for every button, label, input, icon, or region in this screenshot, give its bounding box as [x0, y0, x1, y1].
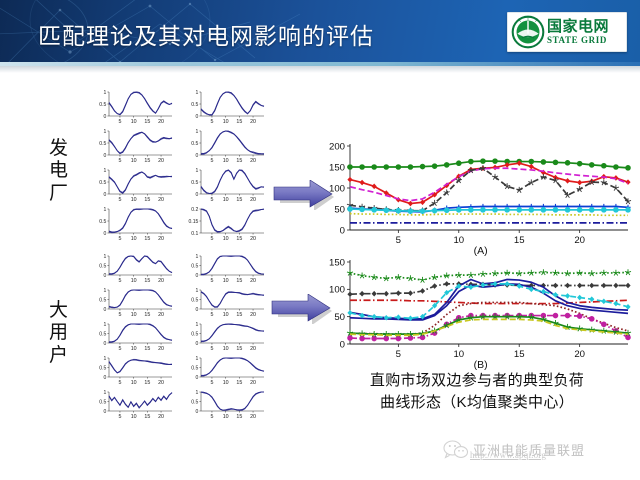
- svg-text:10: 10: [453, 235, 464, 246]
- small-multiple-panel: 00.515101520: [180, 354, 266, 387]
- svg-text:200: 200: [329, 141, 345, 152]
- small-multiple-panel: 00.515101520: [88, 286, 174, 319]
- svg-text:20: 20: [574, 235, 585, 246]
- svg-text:20: 20: [158, 346, 164, 352]
- svg-text:1: 1: [104, 254, 107, 260]
- small-multiple-panel: 00.515101520: [88, 354, 174, 387]
- svg-text:10: 10: [131, 158, 137, 164]
- svg-text:150: 150: [329, 162, 345, 173]
- svg-text:10: 10: [223, 236, 229, 242]
- small-multiples-power-plant: 00.51510152000.51510152000.51510152000.5…: [88, 88, 266, 243]
- svg-text:10: 10: [131, 197, 137, 203]
- small-multiple-panel: 00.515101520: [180, 320, 266, 353]
- svg-text:0.15: 0.15: [188, 219, 198, 225]
- chart-plot-area: 0501001505101520(B): [316, 254, 634, 370]
- caption-line-1: 直购市场双边参与者的典型负荷: [318, 370, 636, 392]
- svg-text:0.5: 0.5: [191, 141, 198, 147]
- svg-text:0.5: 0.5: [99, 297, 106, 303]
- svg-text:0: 0: [196, 114, 199, 120]
- svg-text:5: 5: [210, 119, 213, 125]
- svg-text:0: 0: [196, 153, 199, 159]
- svg-text:1: 1: [104, 207, 107, 213]
- svg-text:5: 5: [210, 278, 213, 284]
- svg-text:1: 1: [196, 90, 199, 96]
- svg-text:20: 20: [250, 158, 256, 164]
- svg-text:0.5: 0.5: [99, 263, 106, 269]
- svg-text:15: 15: [144, 278, 150, 284]
- svg-text:15: 15: [236, 346, 242, 352]
- svg-text:5: 5: [210, 197, 213, 203]
- svg-text:5: 5: [210, 158, 213, 164]
- svg-text:10: 10: [223, 380, 229, 386]
- svg-text:5: 5: [118, 380, 121, 386]
- svg-text:0: 0: [104, 273, 107, 279]
- small-multiple-panel: 00.515101520: [180, 88, 266, 126]
- group-label-char: 厂: [36, 183, 82, 205]
- svg-text:10: 10: [223, 119, 229, 125]
- chart-plot-area: 0501001502005101520(A): [316, 138, 634, 256]
- svg-text:15: 15: [144, 197, 150, 203]
- svg-text:20: 20: [250, 380, 256, 386]
- svg-text:20: 20: [250, 312, 256, 318]
- svg-text:0: 0: [104, 307, 107, 313]
- page-title: 匹配理论及其对电网影响的评估: [38, 17, 374, 51]
- svg-text:20: 20: [250, 236, 256, 242]
- small-multiple-panel: 00.515101520: [180, 252, 266, 285]
- svg-text:15: 15: [236, 236, 242, 242]
- svg-text:5: 5: [118, 119, 121, 125]
- chart-A-power-plant-load-curves: 0501001502005101520(A): [316, 138, 634, 256]
- group-label-char: 电: [36, 160, 82, 182]
- svg-text:1: 1: [196, 168, 199, 174]
- svg-text:15: 15: [236, 278, 242, 284]
- svg-text:0: 0: [104, 153, 107, 159]
- svg-text:0.1: 0.1: [191, 231, 198, 237]
- svg-text:1: 1: [196, 254, 199, 260]
- logo-text-cn: 国家电网: [547, 19, 609, 34]
- svg-text:50: 50: [334, 204, 345, 215]
- svg-text:5: 5: [118, 158, 121, 164]
- svg-text:1: 1: [104, 288, 107, 294]
- svg-text:1: 1: [104, 168, 107, 174]
- chart-series-line: [350, 161, 628, 168]
- watermark-url: http://www.apqi.org: [470, 450, 546, 460]
- svg-text:0.5: 0.5: [191, 263, 198, 269]
- svg-text:10: 10: [223, 158, 229, 164]
- svg-text:20: 20: [158, 278, 164, 284]
- svg-text:0.5: 0.5: [99, 365, 106, 371]
- svg-text:15: 15: [514, 235, 525, 246]
- wechat-icon: [443, 440, 469, 459]
- state-grid-logo: 国家电网 STATE GRID: [507, 12, 627, 52]
- svg-text:0.5: 0.5: [191, 297, 198, 303]
- svg-text:20: 20: [158, 158, 164, 164]
- group-label-char: 大: [36, 300, 82, 322]
- small-multiple-panel: 00.515101520: [88, 205, 174, 243]
- svg-text:0: 0: [104, 341, 107, 347]
- svg-text:0: 0: [104, 192, 107, 198]
- svg-text:20: 20: [158, 312, 164, 318]
- svg-text:0: 0: [104, 114, 107, 120]
- svg-text:150: 150: [329, 257, 345, 268]
- figure-caption: 直购市场双边参与者的典型负荷 曲线形态（K均值聚类中心）: [318, 370, 636, 414]
- small-multiple-panel: 00.515101520: [180, 127, 266, 165]
- svg-text:0.5: 0.5: [99, 141, 106, 147]
- svg-text:0: 0: [196, 307, 199, 313]
- svg-text:0.5: 0.5: [191, 102, 198, 108]
- svg-text:0.5: 0.5: [99, 331, 106, 337]
- svg-text:20: 20: [250, 119, 256, 125]
- svg-text:0.5: 0.5: [191, 180, 198, 186]
- svg-text:5: 5: [210, 312, 213, 318]
- svg-text:100: 100: [329, 183, 345, 194]
- svg-text:0: 0: [196, 409, 199, 415]
- svg-text:50: 50: [334, 312, 345, 323]
- state-grid-emblem-icon: [511, 15, 545, 49]
- small-multiples-large-user: 00.51510152000.51510152000.51510152000.5…: [88, 252, 266, 421]
- svg-text:0: 0: [196, 341, 199, 347]
- svg-text:5: 5: [210, 346, 213, 352]
- svg-text:1: 1: [196, 356, 199, 362]
- svg-text:1: 1: [196, 288, 199, 294]
- svg-text:15: 15: [236, 119, 242, 125]
- svg-text:5: 5: [396, 349, 401, 360]
- chart-B-large-user-load-curves: 0501001505101520(B): [316, 254, 634, 370]
- svg-text:20: 20: [574, 349, 585, 360]
- small-multiple-panel: 00.515101520: [88, 166, 174, 204]
- group-label-char: 户: [36, 345, 82, 367]
- svg-text:0: 0: [104, 375, 107, 381]
- svg-text:20: 20: [158, 197, 164, 203]
- svg-text:1: 1: [104, 322, 107, 328]
- svg-text:5: 5: [210, 380, 213, 386]
- svg-text:15: 15: [236, 312, 242, 318]
- svg-text:10: 10: [453, 349, 464, 360]
- svg-text:0: 0: [340, 339, 345, 350]
- small-multiple-panel: 00.515101520: [180, 286, 266, 319]
- svg-text:15: 15: [236, 158, 242, 164]
- svg-text:5: 5: [118, 278, 121, 284]
- svg-text:10: 10: [131, 346, 137, 352]
- svg-text:0: 0: [104, 231, 107, 237]
- svg-text:10: 10: [223, 346, 229, 352]
- svg-text:15: 15: [144, 414, 150, 420]
- svg-text:15: 15: [236, 380, 242, 386]
- small-multiple-panel: 00.515101520: [180, 166, 266, 204]
- svg-text:20: 20: [250, 197, 256, 203]
- group-label-power-plant: 发 电 厂: [36, 138, 82, 205]
- svg-text:20: 20: [158, 236, 164, 242]
- chart-series-line: [350, 319, 628, 335]
- svg-text:1: 1: [104, 390, 107, 396]
- svg-text:5: 5: [118, 414, 121, 420]
- svg-text:10: 10: [223, 278, 229, 284]
- group-label-char: 发: [36, 138, 82, 160]
- small-multiple-panel: 00.515101520: [88, 388, 174, 421]
- svg-text:15: 15: [514, 349, 525, 360]
- chart-series-line: [350, 284, 628, 294]
- svg-text:5: 5: [210, 236, 213, 242]
- svg-text:15: 15: [236, 414, 242, 420]
- caption-line-2: 曲线形态（K均值聚类中心）: [318, 392, 636, 414]
- svg-text:1: 1: [196, 129, 199, 135]
- svg-text:15: 15: [144, 236, 150, 242]
- svg-text:1: 1: [196, 322, 199, 328]
- svg-text:10: 10: [223, 197, 229, 203]
- svg-text:10: 10: [223, 312, 229, 318]
- chart-x-label: (B): [474, 359, 488, 370]
- svg-text:0: 0: [340, 225, 345, 236]
- svg-text:0.5: 0.5: [191, 331, 198, 337]
- svg-text:0: 0: [196, 375, 199, 381]
- svg-text:10: 10: [131, 414, 137, 420]
- svg-text:0: 0: [104, 409, 107, 415]
- group-label-large-user: 大 用 户: [36, 300, 82, 367]
- chart-series-line: [350, 168, 628, 210]
- svg-text:0.5: 0.5: [99, 219, 106, 225]
- logo-text-en: STATE GRID: [547, 36, 609, 45]
- svg-text:5: 5: [210, 414, 213, 420]
- svg-text:20: 20: [158, 414, 164, 420]
- small-multiple-panel: 00.515101520: [88, 88, 174, 126]
- svg-text:10: 10: [131, 380, 137, 386]
- svg-text:0: 0: [196, 273, 199, 279]
- chart-series-line: [350, 272, 628, 280]
- svg-text:5: 5: [118, 346, 121, 352]
- small-multiple-panel: 00.515101520: [88, 252, 174, 285]
- svg-text:1: 1: [104, 356, 107, 362]
- svg-text:15: 15: [144, 119, 150, 125]
- svg-text:10: 10: [131, 278, 137, 284]
- chart-series-line: [350, 214, 628, 216]
- svg-text:0.5: 0.5: [191, 365, 198, 371]
- svg-text:10: 10: [223, 414, 229, 420]
- svg-text:1: 1: [196, 390, 199, 396]
- svg-text:1: 1: [104, 129, 107, 135]
- svg-text:15: 15: [236, 197, 242, 203]
- small-multiple-panel: 00.515101520: [88, 127, 174, 165]
- svg-text:10: 10: [131, 119, 137, 125]
- svg-text:15: 15: [144, 380, 150, 386]
- svg-text:5: 5: [118, 312, 121, 318]
- small-multiple-panel: 00.515101520: [88, 320, 174, 353]
- svg-text:0: 0: [196, 192, 199, 198]
- page-header: 匹配理论及其对电网影响的评估 国家电网 STATE GRID: [0, 0, 640, 66]
- svg-text:5: 5: [396, 235, 401, 246]
- svg-text:0.5: 0.5: [99, 399, 106, 405]
- svg-text:0.2: 0.2: [191, 207, 198, 213]
- svg-text:15: 15: [144, 346, 150, 352]
- svg-text:0.5: 0.5: [99, 180, 106, 186]
- svg-text:0.5: 0.5: [191, 399, 198, 405]
- svg-text:5: 5: [118, 236, 121, 242]
- svg-text:10: 10: [131, 236, 137, 242]
- svg-text:20: 20: [158, 380, 164, 386]
- group-label-char: 用: [36, 322, 82, 344]
- svg-text:0.5: 0.5: [99, 102, 106, 108]
- small-multiple-panel: 00.515101520: [180, 388, 266, 421]
- svg-text:20: 20: [250, 414, 256, 420]
- svg-text:20: 20: [250, 346, 256, 352]
- small-multiple-panel: 0.10.150.25101520: [180, 205, 266, 243]
- svg-text:100: 100: [329, 285, 345, 296]
- svg-text:15: 15: [144, 312, 150, 318]
- svg-text:20: 20: [250, 278, 256, 284]
- header-shadow: [0, 66, 640, 73]
- svg-text:10: 10: [131, 312, 137, 318]
- svg-text:1: 1: [104, 90, 107, 96]
- svg-text:15: 15: [144, 158, 150, 164]
- svg-text:20: 20: [158, 119, 164, 125]
- svg-text:5: 5: [118, 197, 121, 203]
